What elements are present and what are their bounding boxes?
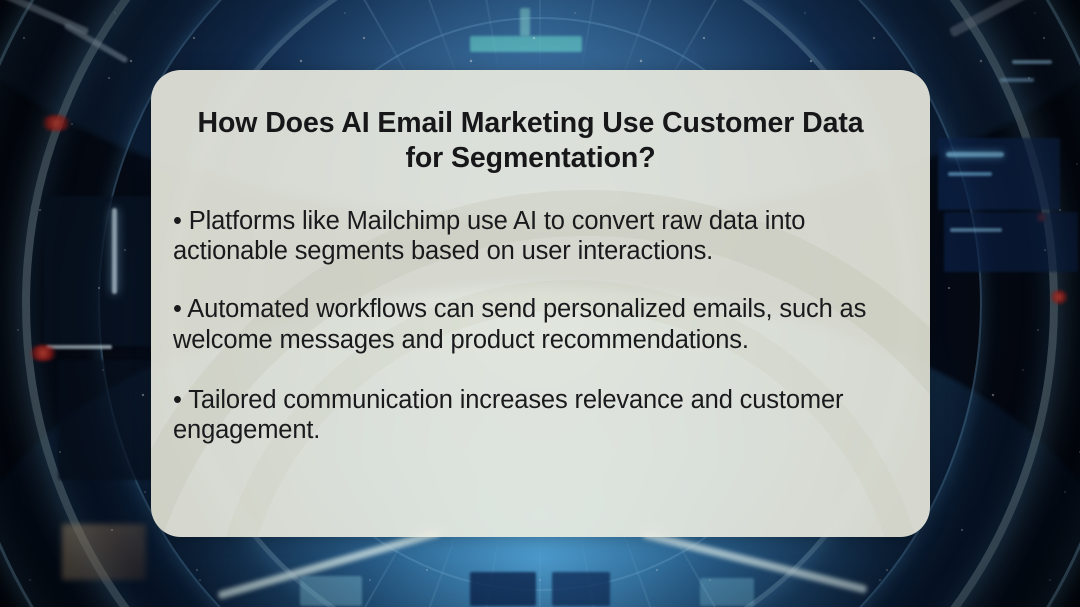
slide-stage: How Does AI Email Marketing Use Customer…: [0, 0, 1080, 607]
list-item: • Tailored communication increases relev…: [173, 385, 888, 446]
content-card: How Does AI Email Marketing Use Customer…: [151, 70, 930, 537]
bullet-list: • Platforms like Mailchimp use AI to con…: [173, 206, 888, 446]
card-inner: How Does AI Email Marketing Use Customer…: [173, 106, 888, 446]
page-title: How Does AI Email Marketing Use Customer…: [173, 106, 888, 176]
list-item: • Automated workflows can send personali…: [173, 294, 888, 355]
list-item: • Platforms like Mailchimp use AI to con…: [173, 206, 888, 267]
